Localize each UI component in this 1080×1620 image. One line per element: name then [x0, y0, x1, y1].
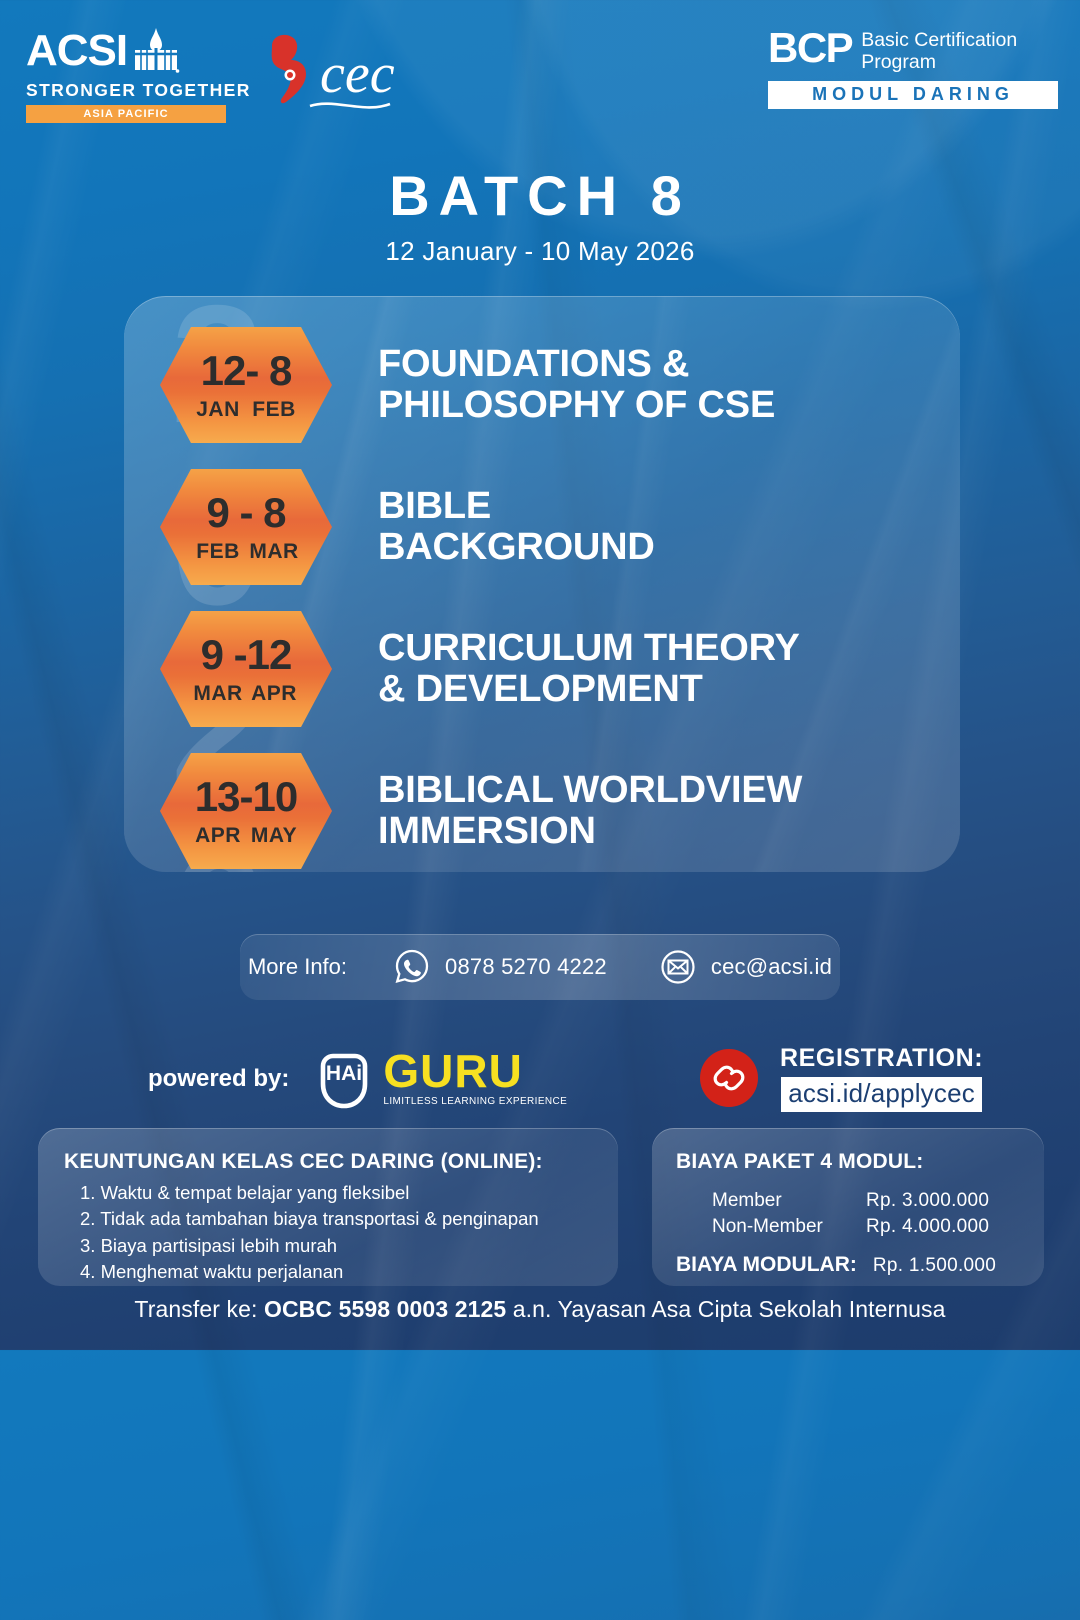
guru-tagline: LIMITLESS LEARNING EXPERIENCE	[383, 1096, 567, 1107]
module-days: 13-10	[195, 776, 297, 818]
bcp-abbr: BCP	[768, 28, 852, 68]
registration-url[interactable]: acsi.id/applycec	[781, 1077, 982, 1112]
pricing-rows: Member Rp. 3.000.000 Non-Member Rp. 4.00…	[676, 1188, 1020, 1239]
module-row: 9 -12 MARAPR CURRICULUM THEORY & DEVELOP…	[160, 604, 960, 734]
module-title-line2: PHILOSOPHY OF CSE	[378, 385, 775, 426]
registration-block[interactable]: REGISTRATION: acsi.id/applycec	[700, 1044, 983, 1112]
transfer-info: Transfer ke: OCBC 5598 0003 2125 a.n. Ya…	[0, 1296, 1080, 1323]
price-amount: Rp. 4.000.000	[866, 1214, 989, 1240]
module-row: 12- 8 JANFEB FOUNDATIONS & PHILOSOPHY OF…	[160, 320, 960, 450]
page-title: BATCH 8	[0, 168, 1080, 224]
acsi-region-badge: ASIA PACIFIC	[26, 105, 226, 123]
module-title-line1: BIBLICAL WORLDVIEW	[378, 770, 802, 811]
bcp-full-line2: Program	[861, 51, 936, 73]
more-info-label: More Info:	[248, 954, 347, 980]
batch-date-range: 12 January - 10 May 2026	[0, 236, 1080, 267]
acsi-book-flame-icon	[131, 26, 181, 76]
table-row: Member Rp. 3.000.000	[676, 1188, 1020, 1214]
email-address: cec@acsi.id	[711, 954, 832, 980]
guru-logo: HAi GURU LIMITLESS LEARNING EXPERIENCE	[315, 1046, 567, 1112]
powered-by-label: powered by:	[148, 1065, 289, 1093]
link-chain-icon	[700, 1049, 758, 1107]
registration-label: REGISTRATION:	[780, 1044, 983, 1072]
module-months: MARAPR	[190, 683, 302, 704]
svg-text:cec: cec	[320, 43, 395, 105]
module-title-line2: BACKGROUND	[378, 527, 655, 568]
module-title-line1: CURRICULUM THEORY	[378, 628, 800, 669]
cec-logo: cec	[258, 30, 428, 116]
modular-price-row: BIAYA MODULAR: Rp. 1.500.000	[676, 1253, 1020, 1277]
benefits-panel: KEUNTUNGAN KELAS CEC DARING (ONLINE): 1.…	[38, 1128, 618, 1286]
pricing-panel: BIAYA PAKET 4 MODUL: Member Rp. 3.000.00…	[652, 1128, 1044, 1286]
whatsapp-contact[interactable]: 0878 5270 4222	[393, 948, 607, 986]
list-item: 4. Menghemat waktu perjalanan	[80, 1259, 592, 1285]
table-row: Non-Member Rp. 4.000.000	[676, 1214, 1020, 1240]
price-amount: Rp. 3.000.000	[866, 1188, 989, 1214]
module-title-line2: & DEVELOPMENT	[378, 669, 800, 710]
list-item: 3. Biaya partisipasi lebih murah	[80, 1233, 592, 1259]
svg-text:HAi: HAi	[326, 1062, 362, 1085]
whatsapp-icon	[393, 948, 431, 986]
benefits-heading: KEUNTUNGAN KELAS CEC DARING (ONLINE):	[64, 1150, 592, 1174]
module-month-start: APR	[190, 825, 246, 846]
title-block: BATCH 8 12 January - 10 May 2026	[0, 168, 1080, 267]
module-month-start: JAN	[190, 399, 246, 420]
acsi-tagline: STRONGER TOGETHER	[26, 80, 226, 101]
module-days: 9 -12	[201, 634, 292, 676]
module-row: 13-10 APRMAY BIBLICAL WORLDVIEW IMMERSIO…	[160, 746, 960, 872]
module-title: CURRICULUM THEORY & DEVELOPMENT	[378, 628, 800, 710]
acsi-wordmark: ACSI	[26, 29, 127, 73]
hai-hand-icon: HAi	[315, 1046, 373, 1112]
envelope-icon	[659, 948, 697, 986]
module-month-start: FEB	[190, 541, 246, 562]
module-title: FOUNDATIONS & PHILOSOPHY OF CSE	[378, 344, 775, 426]
module-row: 9 - 8 FEBMAR BIBLE BACKGROUND	[160, 462, 960, 592]
module-list: 12- 8 JANFEB FOUNDATIONS & PHILOSOPHY OF…	[124, 296, 960, 872]
schedule-panel: 2026 12- 8 JANFEB FOUNDATIONS & PHILOSOP…	[124, 296, 960, 872]
module-months: JANFEB	[190, 399, 302, 420]
acsi-logo: ACSI STRONGER TOGETHER ASIA PACIFIC	[26, 26, 226, 123]
module-title-line1: BIBLE	[378, 486, 655, 527]
module-month-start: MAR	[190, 683, 246, 704]
modular-price-amount: Rp. 1.500.000	[873, 1255, 996, 1277]
partner-row: powered by: HAi GURU LIMITLESS LEARNING …	[0, 1022, 1080, 1118]
module-month-end: MAY	[246, 825, 302, 846]
module-months: APRMAY	[190, 825, 302, 846]
powered-by-block: powered by: HAi GURU LIMITLESS LEARNING …	[148, 1046, 567, 1112]
bcp-full-line1: Basic Certification	[861, 29, 1017, 51]
module-month-end: MAR	[246, 541, 302, 562]
modular-price-label: BIAYA MODULAR:	[676, 1253, 857, 1277]
transfer-prefix: Transfer ke:	[134, 1296, 257, 1322]
price-label: Member	[676, 1188, 866, 1214]
transfer-account-number: OCBC 5598 0003 2125	[264, 1296, 506, 1322]
module-title: BIBLICAL WORLDVIEW IMMERSION	[378, 770, 802, 852]
module-months: FEBMAR	[190, 541, 302, 562]
module-date-badge: 12- 8 JANFEB	[160, 327, 332, 443]
list-item: 2. Tidak ada tambahan biaya transportasi…	[80, 1206, 592, 1232]
module-days: 9 - 8	[206, 492, 285, 534]
header: ACSI STRONGER TOGETHER ASIA PACIFIC cec	[0, 0, 1080, 140]
module-days: 12- 8	[201, 350, 292, 392]
module-title-line2: IMMERSION	[378, 811, 802, 852]
module-month-end: APR	[246, 683, 302, 704]
phone-number: 0878 5270 4222	[445, 954, 607, 980]
bcp-modul-daring-badge: MODUL DARING	[768, 81, 1058, 109]
module-date-badge: 13-10 APRMAY	[160, 753, 332, 869]
transfer-suffix: a.n. Yayasan Asa Cipta Sekolah Internusa	[513, 1296, 946, 1322]
bcp-full-name: Basic Certification Program	[861, 28, 1017, 74]
contact-bar: More Info: 0878 5270 4222 cec@acsi.id	[240, 934, 840, 1000]
module-title-line1: FOUNDATIONS &	[378, 344, 775, 385]
guru-wordmark: GURU	[383, 1051, 567, 1092]
module-title: BIBLE BACKGROUND	[378, 486, 655, 568]
bcp-logo: BCP Basic Certification Program MODUL DA…	[768, 28, 1058, 109]
module-date-badge: 9 -12 MARAPR	[160, 611, 332, 727]
price-label: Non-Member	[676, 1214, 866, 1240]
pricing-heading: BIAYA PAKET 4 MODUL:	[676, 1150, 1020, 1174]
module-month-end: FEB	[246, 399, 302, 420]
email-contact[interactable]: cec@acsi.id	[659, 948, 832, 986]
module-date-badge: 9 - 8 FEBMAR	[160, 469, 332, 585]
list-item: 1. Waktu & tempat belajar yang fleksibel	[80, 1180, 592, 1206]
